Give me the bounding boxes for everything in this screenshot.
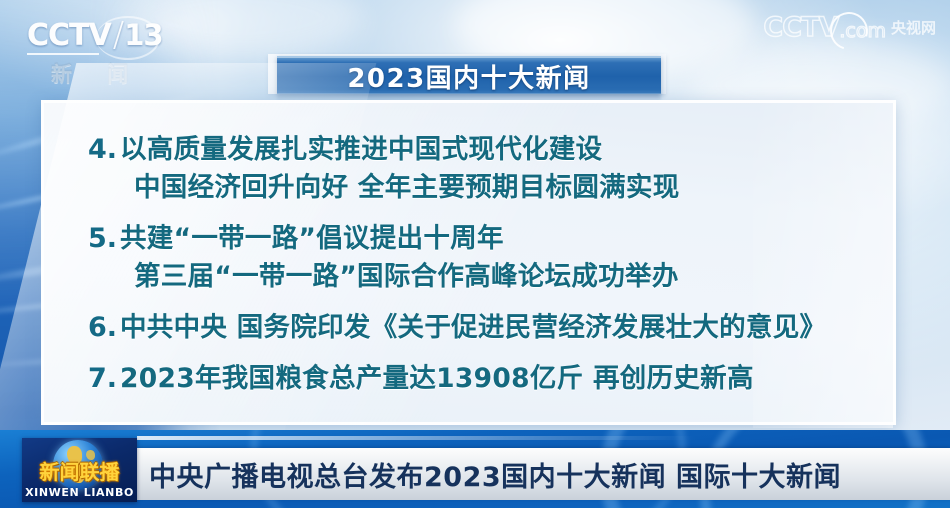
list-item: 7. 2023年我国粮食总产量达13908亿斤 再创历史新高 [88, 360, 879, 398]
program-name-en: XINWEN LIANBO [22, 486, 137, 499]
watermark-cn-text: 央视网 [891, 21, 936, 36]
list-item: 5. 共建“一带一路”倡议提出十周年 第三届“一带一路”国际合作高峰论坛成功举办 [88, 220, 879, 296]
list-item-line: 2023年我国粮食总产量达13908亿斤 再创历史新高 [120, 360, 879, 398]
banner-text-strip: 中央广播电视总台发布2023国内十大新闻 国际十大新闻 [137, 448, 950, 500]
program-name-cn: 新闻联播 [27, 456, 132, 485]
news-panel: 4. 以高质量发展扎实推进中国式现代化建设 中国经济回升向好 全年主要预期目标圆… [41, 100, 896, 425]
page-title: 2023国内十大新闻 [347, 58, 590, 95]
list-item-lines: 以高质量发展扎实推进中国式现代化建设 中国经济回升向好 全年主要预期目标圆满实现 [120, 131, 879, 207]
cctv-logo-underline [27, 53, 99, 55]
list-item-line: 第三届“一带一路”国际合作高峰论坛成功举办 [120, 258, 879, 296]
list-item-lines: 中共中央 国务院印发《关于促进民营经济发展壮大的意见》 [120, 309, 879, 347]
list-item-line: 共建“一带一路”倡议提出十周年 [120, 220, 879, 258]
watermark-com-text: .com [839, 22, 886, 41]
page-title-bar: 2023国内十大新闻 [277, 56, 661, 94]
list-item-line: 以高质量发展扎实推进中国式现代化建设 [120, 131, 879, 169]
list-item-number: 6. [88, 309, 120, 347]
banner-headline: 中央广播电视总台发布2023国内十大新闻 国际十大新闻 [149, 455, 841, 494]
list-item-lines: 2023年我国粮食总产量达13908亿斤 再创历史新高 [120, 360, 879, 398]
banner-top-highlight [137, 436, 697, 440]
news-list: 4. 以高质量发展扎实推进中国式现代化建设 中国经济回升向好 全年主要预期目标圆… [88, 131, 879, 411]
cctv-com-watermark: CCTV .com 央视网 [763, 14, 936, 41]
broadcast-screen: CCTV / 13 新 闻 CCTV .com 央视网 2023国内十大新闻 4… [0, 0, 950, 508]
list-item-line: 中国经济回升向好 全年主要预期目标圆满实现 [120, 169, 879, 207]
watermark-cctv-text: CCTV [763, 14, 838, 41]
list-item-number: 5. [88, 220, 120, 258]
lower-third-banner: 中央广播电视总台发布2023国内十大新闻 国际十大新闻 新闻联播 XINWEN … [0, 430, 950, 508]
list-item: 4. 以高质量发展扎实推进中国式现代化建设 中国经济回升向好 全年主要预期目标圆… [88, 131, 879, 207]
list-item: 6. 中共中央 国务院印发《关于促进民营经济发展壮大的意见》 [88, 309, 879, 347]
cctv-logo-oval [96, 16, 160, 60]
list-item-number: 7. [88, 360, 120, 398]
xinwen-lianbo-logo: 新闻联播 XINWEN LIANBO [22, 438, 137, 502]
list-item-lines: 共建“一带一路”倡议提出十周年 第三届“一带一路”国际合作高峰论坛成功举办 [120, 220, 879, 296]
list-item-line: 中共中央 国务院印发《关于促进民营经济发展壮大的意见》 [120, 309, 879, 347]
channel-ghost-label: 新 闻 [51, 58, 142, 88]
list-item-number: 4. [88, 131, 120, 169]
